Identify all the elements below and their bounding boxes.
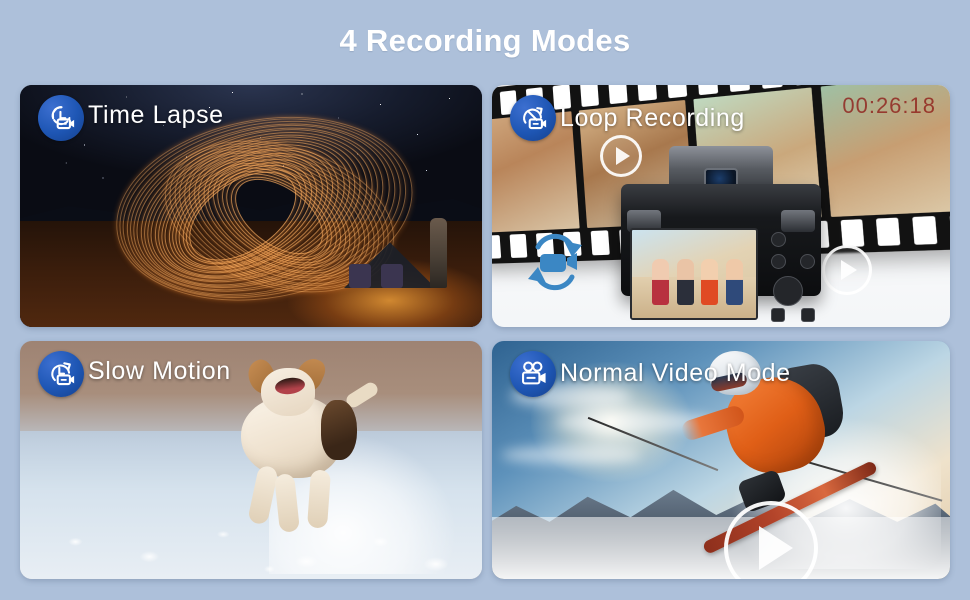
time-lapse-badge (38, 95, 84, 141)
cloud-3 (501, 446, 641, 464)
digital-camera (621, 146, 821, 296)
loop-video-camera-icon (518, 103, 548, 133)
running-dog (223, 370, 373, 550)
card-label-time-lapse: Time Lapse (88, 101, 224, 130)
page-title: 4 Recording Modes (0, 0, 970, 60)
card-label-slow-motion: Slow Motion (88, 357, 231, 386)
screen-child-3 (701, 259, 718, 305)
dog-leg-front (247, 464, 279, 525)
dog-leg-back (307, 469, 331, 528)
camp-chair-right (381, 264, 403, 288)
screen-child-4 (726, 259, 743, 305)
card-label-normal-video-mode: Normal Video Mode (560, 359, 791, 388)
card-label-loop-recording: Loop Recording (560, 104, 745, 133)
camera-dial-right (781, 210, 815, 232)
loop-arrows-camera-icon (518, 227, 592, 297)
recording-timestamp: 00:26:18 (842, 93, 936, 119)
camera-buttons (769, 232, 815, 318)
clock-arrow-video-camera-icon (46, 359, 76, 389)
play-button-icon-3[interactable] (822, 245, 872, 295)
dog-leg-middle (274, 473, 300, 533)
movie-camera-icon (518, 359, 548, 389)
recording-modes-grid: Time Lapse 00:26 (20, 85, 950, 579)
card-normal-video-mode[interactable]: Normal Video Mode (492, 341, 950, 579)
camp-chair-left (349, 264, 371, 288)
slow-motion-badge (38, 351, 84, 397)
card-slow-motion[interactable]: Slow Motion (20, 341, 482, 579)
loop-recording-badge (510, 95, 556, 141)
clock-video-camera-icon (46, 103, 76, 133)
normal-video-badge (510, 351, 556, 397)
screen-child-1 (652, 259, 669, 305)
screen-child-2 (677, 259, 694, 305)
dog-fur-patch (321, 400, 357, 460)
card-time-lapse[interactable]: Time Lapse (20, 85, 482, 327)
person-standing (430, 218, 447, 288)
camera-screen (630, 228, 758, 320)
camera-body (621, 184, 821, 296)
card-loop-recording[interactable]: 00:26:18 (492, 85, 950, 327)
